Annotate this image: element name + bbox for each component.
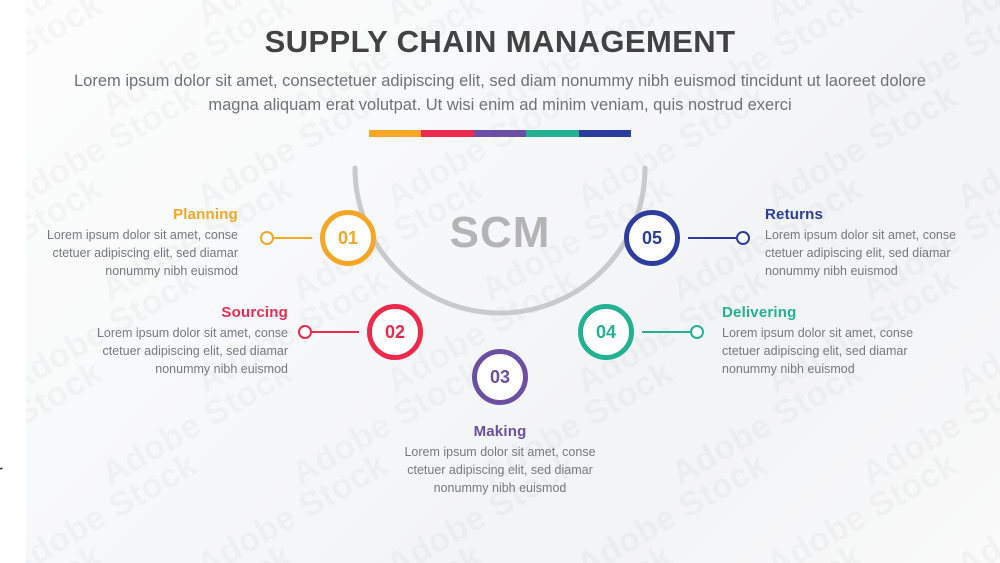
item-title-making: Making: [388, 423, 612, 440]
connector-dot-04: [691, 326, 703, 338]
node-number-02: 02: [385, 323, 405, 341]
node-circle-05[interactable]: 05: [624, 210, 680, 266]
accent-color-bar: [369, 130, 631, 137]
center-label: SCM: [400, 208, 600, 258]
item-desc-making: Lorem ipsum dolor sit amet, conse ctetue…: [388, 444, 612, 497]
connector-dot-02: [299, 326, 311, 338]
node-circle-01[interactable]: 01: [320, 210, 376, 266]
node-number-01: 01: [338, 229, 358, 247]
connector-dot-01: [261, 232, 273, 244]
item-desc-planning: Lorem ipsum dolor sit amet, conse ctetue…: [40, 227, 238, 280]
node-number-04: 04: [596, 323, 616, 341]
accent-segment-teal: [526, 130, 578, 137]
page-subtitle: Lorem ipsum dolor sit amet, consectetuer…: [65, 70, 935, 118]
item-title-delivering: Delivering: [722, 304, 922, 321]
accent-segment-purple: [474, 130, 526, 137]
stock-credit-bar: Adobe Stock | #1036428995: [0, 0, 26, 563]
accent-segment-orange: [369, 130, 421, 137]
item-block-returns: Returns Lorem ipsum dolor sit amet, cons…: [765, 206, 965, 280]
item-block-sourcing: Sourcing Lorem ipsum dolor sit amet, con…: [70, 304, 288, 378]
page-title: SUPPLY CHAIN MANAGEMENT: [0, 24, 1000, 60]
node-circle-04[interactable]: 04: [578, 304, 634, 360]
item-title-planning: Planning: [40, 206, 238, 223]
node-number-05: 05: [642, 229, 662, 247]
node-circle-03[interactable]: 03: [472, 349, 528, 405]
item-desc-sourcing: Lorem ipsum dolor sit amet, conse ctetue…: [70, 325, 288, 378]
connector-dot-05: [737, 232, 749, 244]
item-block-planning: Planning Lorem ipsum dolor sit amet, con…: [40, 206, 238, 280]
accent-segment-red: [421, 130, 473, 137]
item-title-returns: Returns: [765, 206, 965, 223]
item-block-making: Making Lorem ipsum dolor sit amet, conse…: [388, 423, 612, 497]
stock-credit-text: Adobe Stock | #1036428995: [0, 257, 3, 557]
item-desc-returns: Lorem ipsum dolor sit amet, conse ctetue…: [765, 227, 965, 280]
header: SUPPLY CHAIN MANAGEMENT Lorem ipsum dolo…: [0, 0, 1000, 118]
accent-segment-blue: [579, 130, 631, 137]
node-number-03: 03: [490, 368, 510, 386]
infographic-canvas: Adobe StockAdobe StockAdobe StockAdobe S…: [0, 0, 1000, 563]
item-title-sourcing: Sourcing: [70, 304, 288, 321]
item-block-delivering: Delivering Lorem ipsum dolor sit amet, c…: [722, 304, 922, 378]
item-desc-delivering: Lorem ipsum dolor sit amet, conse ctetue…: [722, 325, 922, 378]
node-circle-02[interactable]: 02: [367, 304, 423, 360]
